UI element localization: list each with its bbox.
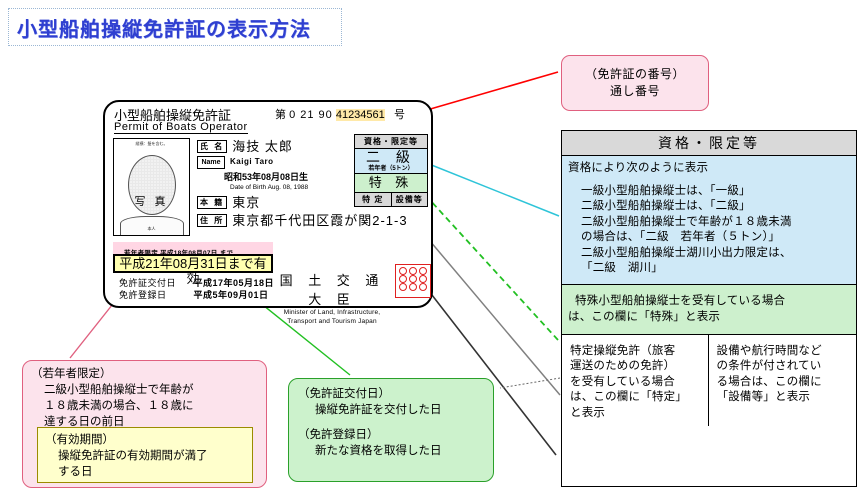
callout-dates-heading1: （免許証交付日）	[298, 386, 487, 402]
field-honseki-value: 東京	[232, 196, 260, 210]
card-title-en: Permit of Boats Operator	[114, 121, 248, 134]
qualification-panel: 資格・限定等 資格により次のように表示 一級小型船舶操縦士は、「一級」 二級小型…	[561, 130, 857, 487]
field-name-en: Name Kaigi Taro	[197, 156, 357, 169]
number-suffix: 号	[394, 109, 405, 121]
panel-setsubi-line-2: る場合は、この欄に	[717, 375, 852, 391]
callout-dates-heading2: （免許登録日）	[298, 427, 487, 443]
callout-validity-period: （有効期間） 操縦免許証の有効期間が満了 する日	[37, 427, 253, 483]
seal-dots	[396, 265, 430, 293]
callout-number-line2: 通し番号	[610, 83, 660, 100]
panel-blue-line-4: 二級小型船舶操縦士湖川小出力限定は、	[568, 246, 850, 262]
minister-block: 国 土 交 通 大 臣 Minister of Land, Infrastruc…	[273, 270, 391, 326]
field-birth-en: Date of Birth Aug. 08, 1988	[230, 183, 357, 192]
qual-foot-tokutei: 特 定	[355, 193, 392, 206]
validity-box: 平成21年08月31日まで有効	[113, 254, 273, 273]
panel-split-section: 特定操縦免許（旅客 運送のための免許） を受有している場合 は、この欄に「特定」…	[562, 335, 856, 427]
panel-blue-line-5: 「二級 湖川」	[568, 261, 850, 277]
callout-validity-line-0: 操縦免許証の有効期間が満了	[45, 448, 247, 464]
license-card: 小型船舶操縦免許証 Permit of Boats Operator 第 0 2…	[103, 100, 433, 308]
panel-tokutei-line-0: 特定操縦免許（旅客	[570, 344, 703, 360]
panel-header: 資格・限定等	[562, 131, 856, 156]
issue-date-label: 免許証交付日	[119, 277, 191, 289]
panel-setsubi-line-0: 設備や航行時間など	[717, 344, 852, 360]
register-date-row: 免許登録日 平成5年09月01日	[119, 289, 274, 301]
field-name-en-value: Kaigi Taro	[230, 156, 274, 167]
qual-header: 資格・限定等	[355, 135, 427, 149]
callout-dates-line2: 新たな資格を取得した日	[298, 443, 487, 459]
photo-note: 縦横：髪を含む。	[114, 141, 189, 147]
card-dates: 免許証交付日 平成17年05月18日 免許登録日 平成5年09月01日	[119, 277, 274, 301]
qual-foot-setsubi: 設備等	[392, 193, 428, 206]
panel-setsubi-column: 設備や航行時間など の条件が付されてい る場合は、この欄に 「設備等」と表示	[709, 335, 857, 427]
panel-blue-line-0: 一級小型船舶操縦士は、「一級」	[568, 184, 850, 200]
number-prefix: 第	[275, 109, 286, 121]
card-license-number: 第 0 21 90 41234561 号	[275, 106, 405, 122]
qual-grade-sub: 若年者（5トン）	[355, 165, 427, 173]
issue-date-value: 平成17年05月18日	[194, 278, 275, 288]
minister-en-line1: Minister of Land, Infrastructure,	[273, 308, 391, 317]
panel-blue-line-1: 二級小型船舶操縦士は、「二級」	[568, 199, 850, 215]
callout-dates-line1: 操縦免許証を交付した日	[298, 402, 487, 418]
field-honseki-tag: 本 籍	[197, 196, 227, 209]
photo-label: 写 真	[134, 193, 168, 209]
minister-en-line2: Transport and Tourism Japan	[273, 317, 391, 326]
callout-number-line1: （免許証の番号）	[585, 66, 685, 83]
field-address-value: 東京都千代田区霞が関2-1-3	[232, 214, 407, 228]
panel-blue-line-2: 二級小型船舶操縦士で年齢が１８歳未満	[568, 215, 850, 231]
qual-special-cell: 特 殊	[355, 174, 427, 193]
callout-young-line-0: 二級小型船舶操縦士で年齢が	[31, 382, 260, 398]
qual-grade-cell: 二 級 若年者（5トン）	[355, 149, 427, 174]
register-date-label: 免許登録日	[119, 289, 191, 301]
field-birth-jp: 昭和53年08月08日生	[224, 171, 357, 183]
callout-young-limit: （若年者限定） 二級小型船舶操縦士で年齢が １８歳未満の場合、１８歳に 達する日…	[23, 361, 266, 435]
callout-young-line-1: １８歳未満の場合、１８歳に	[31, 398, 260, 414]
page-title: 小型船舶操縦免許証の表示方法	[9, 13, 311, 42]
number-part1: 0 21 90	[289, 109, 333, 121]
card-fields: 氏 名 海技 太郎 Name Kaigi Taro 昭和53年08月08日生 D…	[197, 140, 357, 230]
young-limit-line: 若年者限定 平成18年08月07日 まで	[113, 242, 273, 254]
panel-tokutei-line-1: 運送のための免許）	[570, 359, 703, 375]
callout-validity-heading: （有効期間）	[45, 432, 247, 448]
panel-green-line1: 特殊小型船舶操縦士を受有している場合	[575, 293, 850, 309]
page-title-box: 小型船舶操縦免許証の表示方法	[8, 8, 342, 46]
issue-date-row: 免許証交付日 平成17年05月18日	[119, 277, 274, 289]
panel-setsubi-line-3: 「設備等」と表示	[717, 390, 852, 406]
register-date-value: 平成5年09月01日	[194, 290, 269, 300]
field-address-tag: 住 所	[197, 214, 227, 227]
callout-dates: （免許証交付日） 操縦免許証を交付した日 （免許登録日） 新たな資格を取得した日	[288, 378, 494, 482]
field-address: 住 所 東京都千代田区霞が関2-1-3	[197, 214, 357, 228]
panel-tokutei-line-3: は、この欄に「特定」	[570, 390, 703, 406]
panel-blue-section: 資格により次のように表示 一級小型船舶操縦士は、「一級」 二級小型船舶操縦士は、…	[562, 156, 856, 285]
panel-blue-line-3: の場合は、「二級 若年者（５トン）」	[568, 230, 850, 246]
callout-group-left: （若年者限定） 二級小型船舶操縦士で年齢が １８歳未満の場合、１８歳に 達する日…	[22, 360, 267, 488]
field-name-en-tag: Name	[197, 156, 225, 169]
field-name: 氏 名 海技 太郎	[197, 140, 357, 154]
connector-special-green	[418, 186, 558, 340]
official-seal	[395, 264, 431, 298]
connector-number-red	[420, 72, 558, 117]
panel-blue-intro: 資格により次のように表示	[568, 161, 850, 177]
photo-frame: 縦横：髪を含む。 写 真 本人	[113, 138, 190, 236]
panel-tokutei-line-4: と表示	[570, 406, 703, 422]
qual-grade-value: 二 級	[355, 150, 427, 165]
panel-green-line2: は、この欄に「特殊」と表示	[568, 309, 850, 325]
panel-green-section: 特殊小型船舶操縦士を受有している場合 は、この欄に「特殊」と表示	[562, 285, 856, 335]
qual-foot-row: 特 定 設備等	[355, 193, 427, 206]
callout-young-heading: （若年者限定）	[31, 366, 260, 382]
field-honseki: 本 籍 東京	[197, 196, 357, 210]
panel-setsubi-line-1: の条件が付されてい	[717, 359, 852, 375]
number-part2: 41234561	[336, 109, 385, 121]
photo-mini-label: 本人	[148, 226, 156, 232]
field-name-value: 海技 太郎	[232, 140, 293, 154]
connector-grade-cyan	[424, 162, 559, 216]
field-name-tag: 氏 名	[197, 140, 227, 153]
callout-license-number: （免許証の番号） 通し番号	[561, 55, 709, 111]
panel-tokutei-line-2: を受有している場合	[570, 375, 703, 391]
qualification-table: 資格・限定等 二 級 若年者（5トン） 特 殊 特 定 設備等	[354, 134, 428, 207]
panel-tokutei-column: 特定操縦免許（旅客 運送のための免許） を受有している場合 は、この欄に「特定」…	[562, 335, 709, 427]
callout-validity-line-1: する日	[45, 464, 247, 480]
minister-jp: 国 土 交 通 大 臣	[273, 270, 391, 308]
